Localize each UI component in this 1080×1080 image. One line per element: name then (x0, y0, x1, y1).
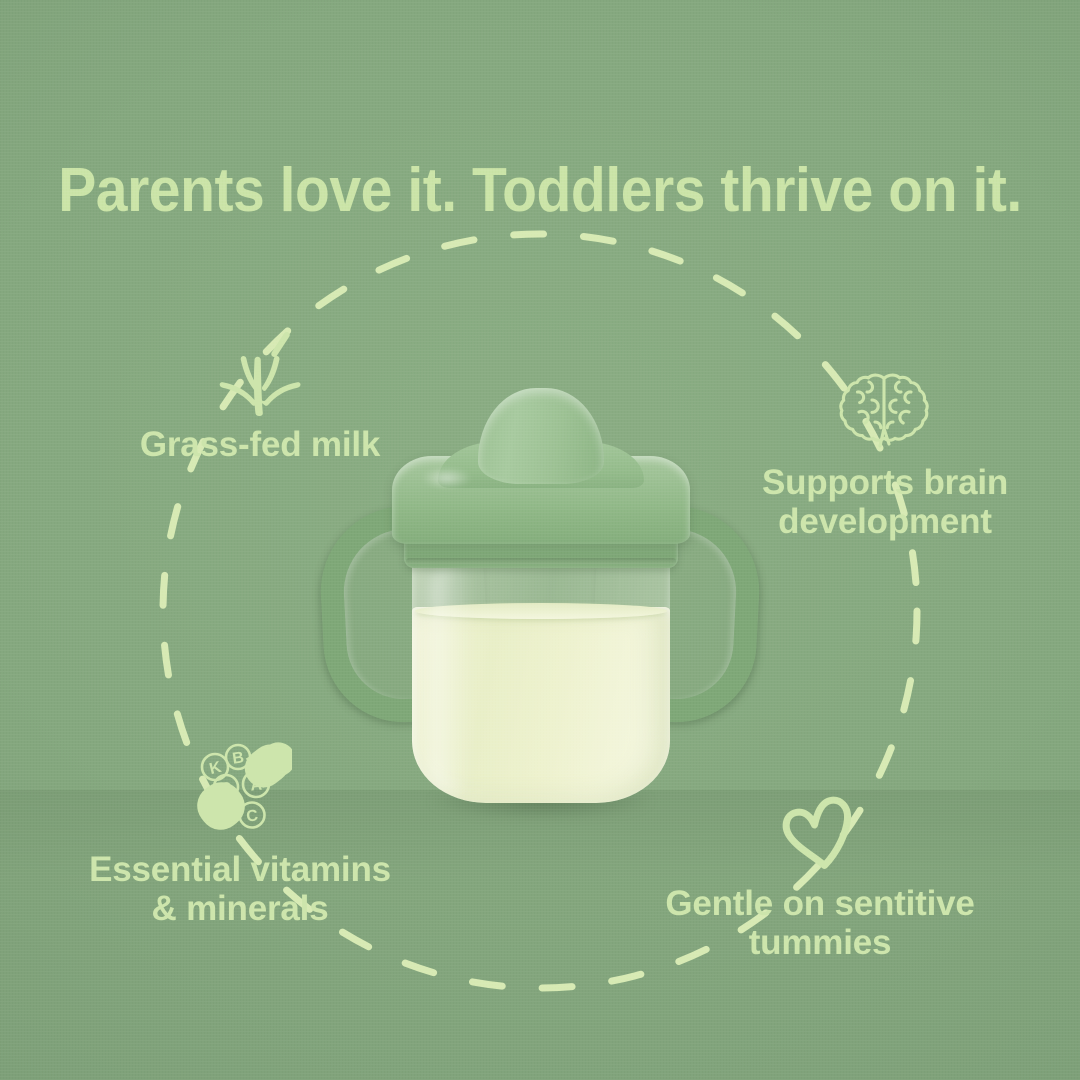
benefit-label: Essential vitamins & minerals (89, 851, 391, 928)
svg-text:K: K (208, 759, 224, 778)
benefit-gentle-tummies: Gentle on sentitive tummies (620, 795, 1020, 962)
brain-icon (837, 370, 933, 450)
heart-icon (779, 795, 861, 871)
benefit-label: Gentle on sentitive tummies (665, 885, 974, 962)
vitamin-capsule-icon: K B D A C (188, 735, 292, 835)
cup-collar-seam (406, 558, 676, 564)
svg-text:D: D (219, 779, 234, 798)
svg-text:B: B (231, 749, 245, 767)
benefit-grass-fed: Grass-fed milk (60, 330, 460, 465)
cup-spout (478, 388, 604, 484)
benefit-label: Supports brain development (762, 464, 1008, 541)
grass-icon (217, 330, 303, 418)
svg-text:A: A (250, 776, 264, 794)
benefit-brain-development: Supports brain development (700, 370, 1070, 541)
page-title: Parents love it. Toddlers thrive on it. (43, 158, 1037, 223)
cup-body (412, 555, 670, 803)
benefit-label: Grass-fed milk (140, 426, 380, 465)
svg-text:C: C (245, 807, 259, 826)
benefit-vitamins-minerals: K B D A C Essential vitamins & minerals (40, 735, 440, 928)
poster-canvas: Parents love it. Toddlers thrive on it. (0, 0, 1080, 1080)
cup-lid-highlight (418, 466, 490, 496)
